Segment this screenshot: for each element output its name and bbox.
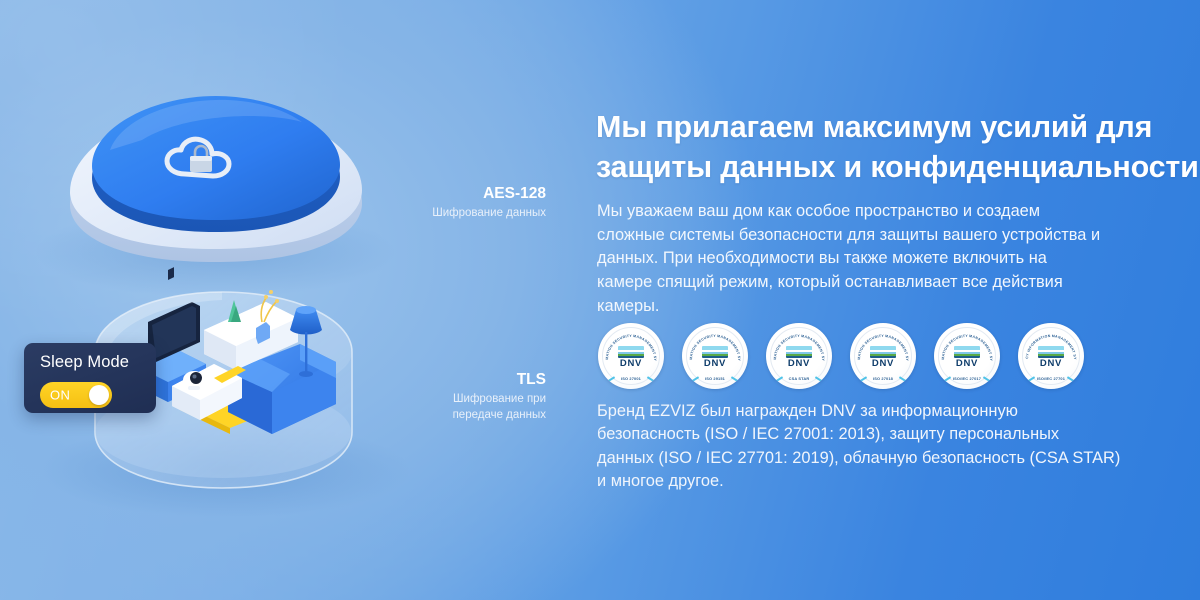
badge-standard: ISO/IEC 27701: [1018, 376, 1084, 381]
footnote-line1: Бренд EZVIZ был награжден DNV за информа…: [597, 400, 1197, 423]
callout-tls-subtitle-line1: Шифрование при: [300, 392, 546, 407]
illustration-panel: [0, 0, 580, 600]
illustration-svg: [0, 0, 580, 600]
dnv-logo-icon: [618, 346, 644, 358]
callout-tls-title: TLS: [300, 370, 546, 389]
certification-badge-row: INFORMATION SECURITY MANAGEMENT SYSTEMDN…: [598, 322, 1178, 390]
page-title-line1: Мы прилагаем максимум усилий для: [596, 108, 1176, 148]
footnote-line3: данных (ISO / IEC 27701: 2019), облачную…: [597, 447, 1197, 470]
dnv-logo-icon: [870, 346, 896, 358]
sleep-mode-toggle[interactable]: ON: [40, 382, 112, 408]
badge-brand: DNV: [850, 358, 916, 369]
body-line4: камере спящий режим, который останавлива…: [597, 271, 1182, 295]
footnote-line2: безопасность (ISO / IEC 27001: 2013), за…: [597, 423, 1197, 446]
content-column: Мы прилагаем максимум усилий для защиты …: [596, 0, 1200, 600]
badge-standard: CSA STAR: [766, 376, 832, 381]
badge-brand: DNV: [598, 358, 664, 369]
certification-badge-iso-iec-27701: PRIVACY INFORMATION MANAGEMENT SYSTEMDNV…: [1018, 323, 1084, 389]
toggle-knob[interactable]: [89, 385, 109, 405]
dnv-logo-icon: [786, 346, 812, 358]
badge-standard: ISO 27001: [598, 376, 664, 381]
badge-brand: DNV: [766, 358, 832, 369]
callout-aes-128: AES-128 Шифрование данных: [300, 184, 546, 222]
certification-badge-iso-27018: INFORMATION SECURITY MANAGEMENT SYSTEMDN…: [850, 323, 916, 389]
page-title: Мы прилагаем максимум усилий для защиты …: [596, 108, 1176, 187]
sleep-mode-card[interactable]: Sleep Mode ON: [24, 343, 156, 413]
page-title-line2: защиты данных и конфиденциальности: [596, 148, 1176, 188]
dnv-logo-icon: [954, 346, 980, 358]
badge-standard: ISO 27018: [850, 376, 916, 381]
badge-standard: ISO 29151: [682, 376, 748, 381]
certification-badge-iso-iec-27017: INFORMATION SECURITY MANAGEMENT SYSTEMDN…: [934, 323, 1000, 389]
certification-badge-iso-27001: INFORMATION SECURITY MANAGEMENT SYSTEMDN…: [598, 323, 664, 389]
body-line1: Мы уважаем ваш дом как особое пространст…: [597, 200, 1182, 224]
badge-standard: ISO/IEC 27017: [934, 376, 1000, 381]
body-line5: камеры.: [597, 295, 1182, 319]
body-line3: данных. При необходимости вы также может…: [597, 247, 1182, 271]
callout-tls: TLS Шифрование при передаче данных: [300, 370, 546, 423]
callout-aes-subtitle: Шифрование данных: [300, 206, 546, 221]
badge-brand: DNV: [682, 358, 748, 369]
badge-brand: DNV: [1018, 358, 1084, 369]
body-line2: сложные системы безопасности для защиты …: [597, 224, 1182, 248]
certification-badge-csa-star: INFORMATION SECURITY MANAGEMENT SYSTEMDN…: [766, 323, 832, 389]
sleep-mode-label: Sleep Mode: [40, 354, 156, 371]
badge-brand: DNV: [934, 358, 1000, 369]
callout-tls-subtitle-line2: передаче данных: [300, 408, 546, 423]
dnv-logo-icon: [702, 346, 728, 358]
body-paragraph: Мы уважаем ваш дом как особое пространст…: [597, 200, 1182, 318]
certification-footnote: Бренд EZVIZ был награжден DNV за информа…: [597, 400, 1197, 493]
dnv-logo-icon: [1038, 346, 1064, 358]
callout-tls-subtitle: Шифрование при передаче данных: [300, 392, 546, 423]
footnote-line4: и многое другое.: [597, 470, 1197, 493]
sleep-mode-toggle-state: ON: [50, 387, 70, 402]
certification-badge-iso-29151: INFORMATION SECURITY MANAGEMENT SYSTEMDN…: [682, 323, 748, 389]
callout-aes-title: AES-128: [300, 184, 546, 203]
